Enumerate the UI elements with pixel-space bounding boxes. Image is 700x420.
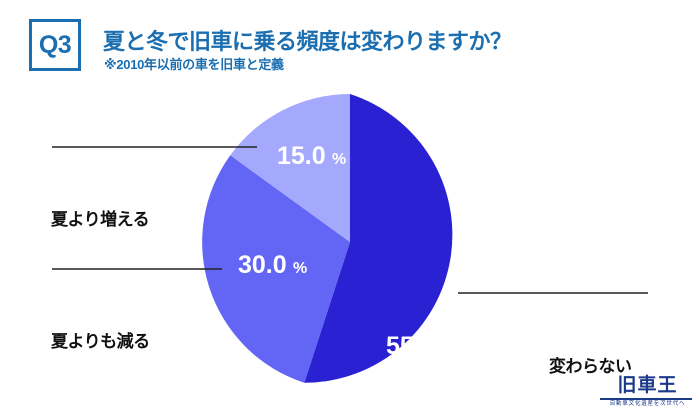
question-number-label: Q3 — [39, 33, 71, 58]
slice-unit-same: % — [441, 341, 455, 358]
brand-logo-tagline: 自動車文化遺産を次世代へ — [600, 402, 695, 408]
category-label-increase: 夏より増える — [51, 205, 149, 230]
category-label-same: 変わらない — [549, 352, 632, 377]
header: Q3 夏と冬で旧車に乗る頻度は変わりますか？ ※2010年以前の車を旧車と定義 — [0, 0, 700, 88]
page-title: 夏と冬で旧車に乗る頻度は変わりますか？ — [103, 24, 512, 56]
slice-value-decrease: 30.0 — [238, 251, 287, 279]
slice-unit-increase: % — [332, 151, 346, 168]
slice-value-increase: 15.0 — [277, 142, 326, 170]
pie-slice-value-same: 55.0 % — [386, 332, 455, 360]
page-subtitle: ※2010年以前の車を旧車と定義 — [104, 54, 284, 73]
category-label-decrease: 夏よりも減る — [51, 327, 150, 352]
pie-chart: 55.0 % 30.0 % 15.0 % 夏より増える 夏よりも減る 変わらない — [0, 80, 700, 410]
brand-logo-mark: 旧車王 — [600, 376, 695, 395]
brand-logo: 旧車王 自動車文化遺産を次世代へ — [600, 376, 695, 414]
slice-value-same: 55.0 — [386, 332, 435, 360]
question-number-badge: Q3 — [29, 19, 81, 71]
slice-unit-decrease: % — [293, 260, 307, 277]
